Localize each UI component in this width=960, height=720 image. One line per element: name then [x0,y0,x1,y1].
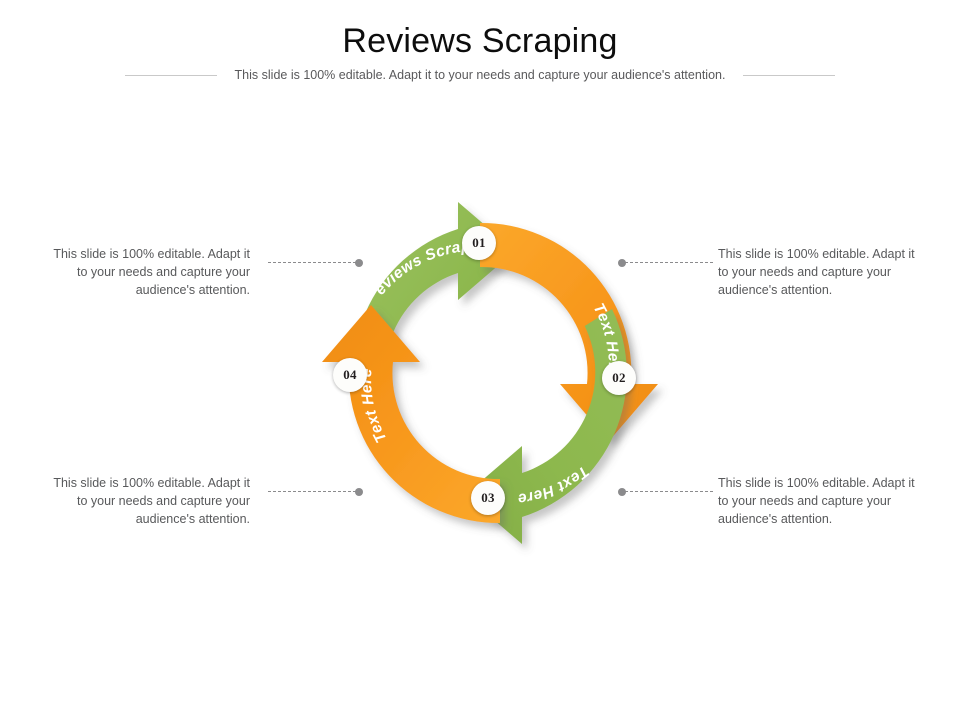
description-block-4: This slide is 100% editable. Adapt it to… [718,474,928,528]
description-block-2: This slide is 100% editable. Adapt it to… [718,245,928,299]
connector-dash-4 [625,491,713,492]
cycle-segment-02[interactable] [480,223,658,441]
connector-dash-2 [625,262,713,263]
cycle-step-number-04: 04 [343,367,357,383]
connector-line-1 [268,258,363,267]
cycle-step-number-01: 01 [472,235,486,251]
connector-dash-1 [268,262,356,263]
connector-dot-3 [355,488,363,496]
connector-line-3 [268,487,363,496]
description-block-3: This slide is 100% editable. Adapt it to… [40,474,250,528]
cycle-step-number-02: 02 [612,370,626,386]
cycle-step-number-03: 03 [481,490,495,506]
cycle-step-badge-03[interactable]: 03 [471,481,505,515]
connector-line-4 [618,487,713,496]
connector-line-2 [618,258,713,267]
connector-dot-1 [355,259,363,267]
cycle-step-badge-01[interactable]: 01 [462,226,496,260]
cycle-diagram: Reviews Scraping Text Here Text Here Tex… [0,0,960,720]
description-block-1: This slide is 100% editable. Adapt it to… [40,245,250,299]
cycle-step-badge-04[interactable]: 04 [333,358,367,392]
connector-dash-3 [268,491,356,492]
cycle-segment-01-label: Reviews Scraping [290,185,486,298]
cycle-step-badge-02[interactable]: 02 [602,361,636,395]
